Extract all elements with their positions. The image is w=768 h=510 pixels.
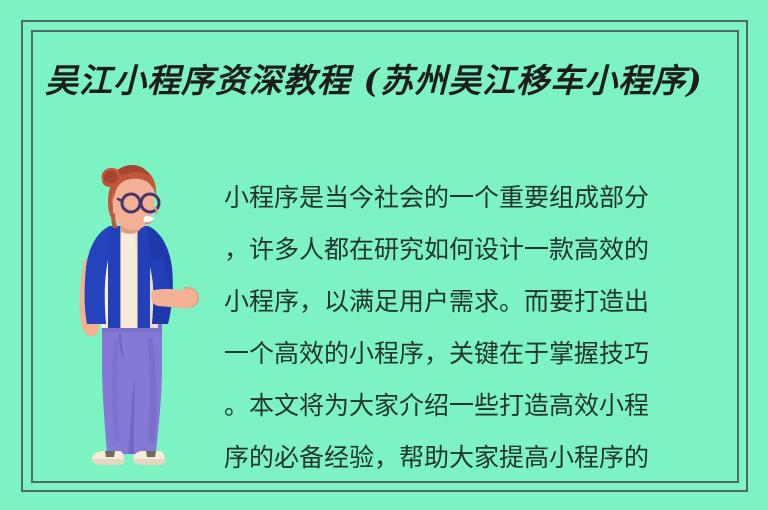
body-line: 序的必备经验，帮助大家提高小程序的 (224, 432, 736, 484)
standing-woman-illustration (58, 162, 208, 482)
body-line: 小程序，以满足用户需求。而要打造出 (224, 276, 736, 328)
body-line: ，许多人都在研究如何设计一款高效的 (224, 224, 736, 276)
body-line: 。本文将为大家介绍一些打造高效小程 (224, 380, 736, 432)
poster-canvas: 吴江小程序资深教程 (苏州吴江移车小程序) (0, 0, 768, 510)
body-line: 小程序是当今社会的一个重要组成部分 (224, 172, 736, 224)
body-line: 一个高效的小程序，关键在于掌握技巧 (224, 328, 736, 380)
page-title: 吴江小程序资深教程 (苏州吴江移车小程序) (45, 58, 745, 104)
body-paragraph: 小程序是当今社会的一个重要组成部分 ，许多人都在研究如何设计一款高效的 小程序，… (224, 172, 736, 484)
